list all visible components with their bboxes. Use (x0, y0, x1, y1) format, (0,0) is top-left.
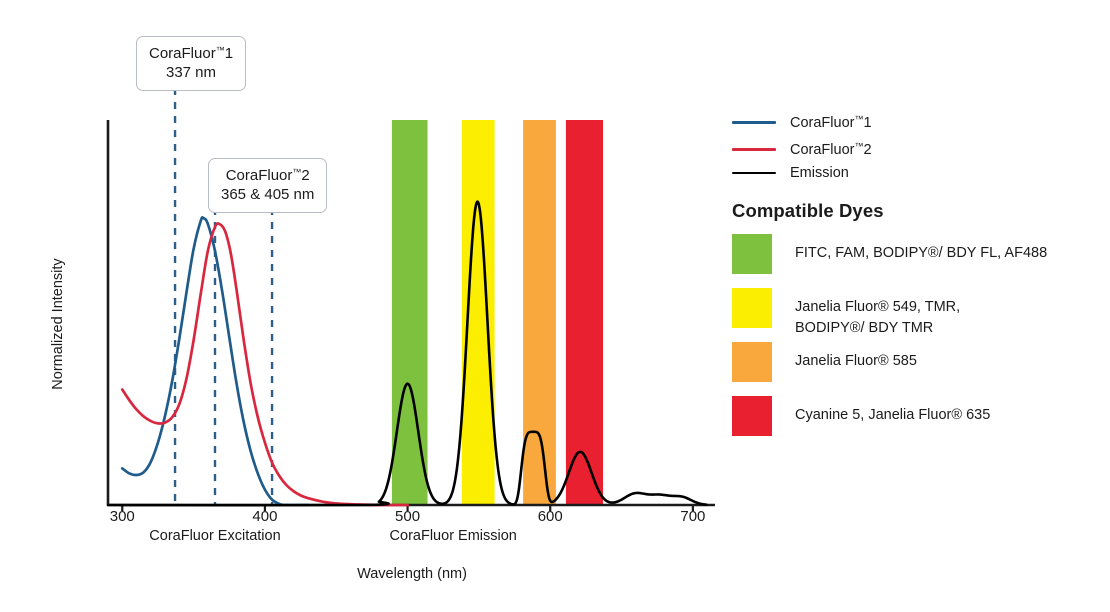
y-axis-title: Normalized Intensity (50, 234, 66, 414)
green-band (392, 120, 428, 505)
x-axis-title: Wavelength (nm) (357, 566, 467, 582)
x-tick-label-300: 300 (110, 508, 135, 525)
dye-row-1: FITC, FAM, BODIPY®/ BDY FL, AF488 (732, 234, 1047, 274)
x-tick-label-500: 500 (395, 508, 420, 525)
dye-label: FITC, FAM, BODIPY®/ BDY FL, AF488 (795, 234, 1047, 264)
callout-corafluor1-line2: 337 nm (149, 63, 233, 82)
dye-row-3: Janelia Fluor® 585 (732, 342, 917, 382)
legend-series-label: Emission (790, 165, 849, 181)
x-tick-label-400: 400 (252, 508, 277, 525)
legend-series-label-text: CoraFluor (790, 115, 854, 131)
curve-corafluor2 (122, 223, 407, 505)
fluorescence-spectra-figure: CoraFluor™1 337 nm CoraFluor™2 365 & 405… (0, 0, 1110, 612)
region-label-excitation: CoraFluor Excitation (149, 528, 280, 544)
legend-series-row-1: CoraFluor™1 (732, 114, 872, 131)
compatible-dyes-title: Compatible Dyes (732, 200, 884, 222)
dye-row-2: Janelia Fluor® 549, TMR, BODIPY®/ BDY TM… (732, 288, 960, 338)
legend-line-swatch (732, 148, 776, 151)
x-tick-label-600: 600 (538, 508, 563, 525)
legend-series-label: CoraFluor™2 (790, 141, 872, 158)
dye-row-4: Cyanine 5, Janelia Fluor® 635 (732, 396, 990, 436)
legend-line-swatch (732, 121, 776, 124)
x-tick-label-700: 700 (680, 508, 705, 525)
legend-series-label-suffix: 2 (863, 142, 871, 158)
legend-panel: CoraFluor™1CoraFluor™2Emission Compatibl… (730, 0, 1110, 612)
dye-color-swatch (732, 288, 772, 328)
legend-series-label-text: Emission (790, 165, 849, 181)
trademark-icon: ™ (216, 45, 225, 55)
callout-corafluor1-line1: CoraFluor™1 (149, 44, 233, 63)
dye-color-swatch (732, 396, 772, 436)
dye-label: Janelia Fluor® 585 (795, 342, 917, 372)
dye-label: Cyanine 5, Janelia Fluor® 635 (795, 396, 990, 426)
legend-series-label: CoraFluor™1 (790, 114, 872, 131)
legend-line-swatch (732, 172, 776, 175)
legend-series-label-suffix: 1 (863, 115, 871, 131)
red-band (566, 120, 603, 505)
callout-corafluor2-line2: 365 & 405 nm (221, 185, 314, 204)
legend-series-row-3: Emission (732, 165, 849, 181)
dye-color-swatch (732, 342, 772, 382)
callout-corafluor2: CoraFluor™2 365 & 405 nm (208, 158, 327, 213)
orange-band (523, 120, 556, 505)
callout-corafluor1: CoraFluor™1 337 nm (136, 36, 246, 91)
legend-series-row-2: CoraFluor™2 (732, 141, 872, 158)
dye-color-swatch (732, 234, 772, 274)
callout-corafluor2-line1: CoraFluor™2 (221, 166, 314, 185)
dye-label: Janelia Fluor® 549, TMR, BODIPY®/ BDY TM… (795, 288, 960, 338)
legend-series-label-text: CoraFluor (790, 142, 854, 158)
region-label-emission: CoraFluor Emission (390, 528, 517, 544)
